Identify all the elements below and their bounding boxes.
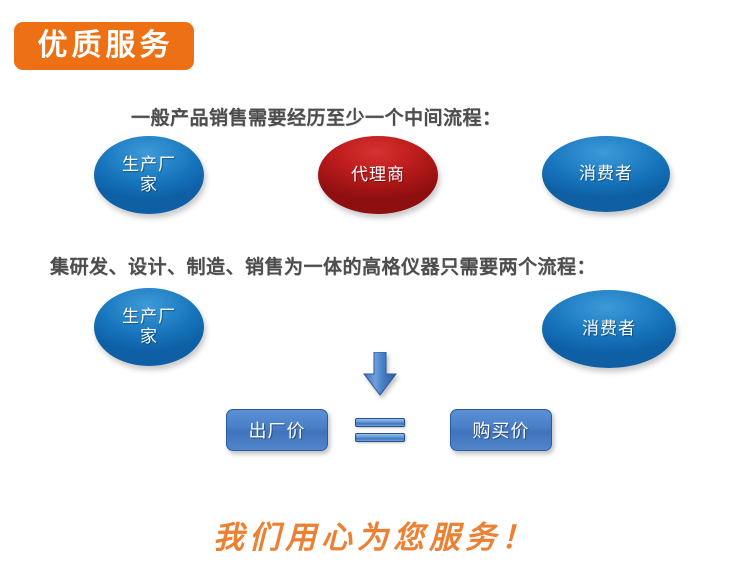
- node-manufacturer-row1[interactable]: 生产厂 家: [94, 136, 204, 214]
- equals-bar-top: [355, 418, 405, 427]
- price-box-purchase[interactable]: 购买价: [450, 409, 552, 451]
- equals-sign-icon: [355, 418, 405, 444]
- section-1-caption: 一般产品销售需要经历至少一个中间流程：: [131, 103, 502, 130]
- footer-slogan: 我们用心为您服务！: [0, 512, 750, 557]
- price-box-label: 出厂价: [249, 417, 306, 443]
- section-2-caption: 集研发、设计、制造、销售为一体的高格仪器只需要两个流程：: [50, 252, 596, 279]
- header-banner: 优质服务: [14, 22, 194, 70]
- header-banner-label: 优质服务: [35, 31, 174, 61]
- node-label: 生产厂 家: [122, 155, 176, 195]
- equals-bar-bottom: [355, 433, 405, 442]
- arrow-down-icon: [362, 352, 398, 396]
- node-consumer-row2[interactable]: 消费者: [542, 290, 676, 368]
- price-box-label: 购买价: [473, 417, 530, 443]
- price-box-exfactory[interactable]: 出厂价: [226, 409, 328, 451]
- node-consumer-row1[interactable]: 消费者: [542, 136, 670, 212]
- node-manufacturer-row2[interactable]: 生产厂 家: [94, 288, 204, 366]
- node-label: 消费者: [579, 164, 633, 184]
- node-label: 消费者: [582, 319, 636, 339]
- node-label: 生产厂 家: [122, 307, 176, 347]
- node-agent-row1[interactable]: 代理商: [318, 136, 438, 214]
- node-label: 代理商: [351, 165, 405, 185]
- slide-canvas: 优质服务 一般产品销售需要经历至少一个中间流程： 生产厂 家 代理商 消费者 集…: [0, 0, 750, 578]
